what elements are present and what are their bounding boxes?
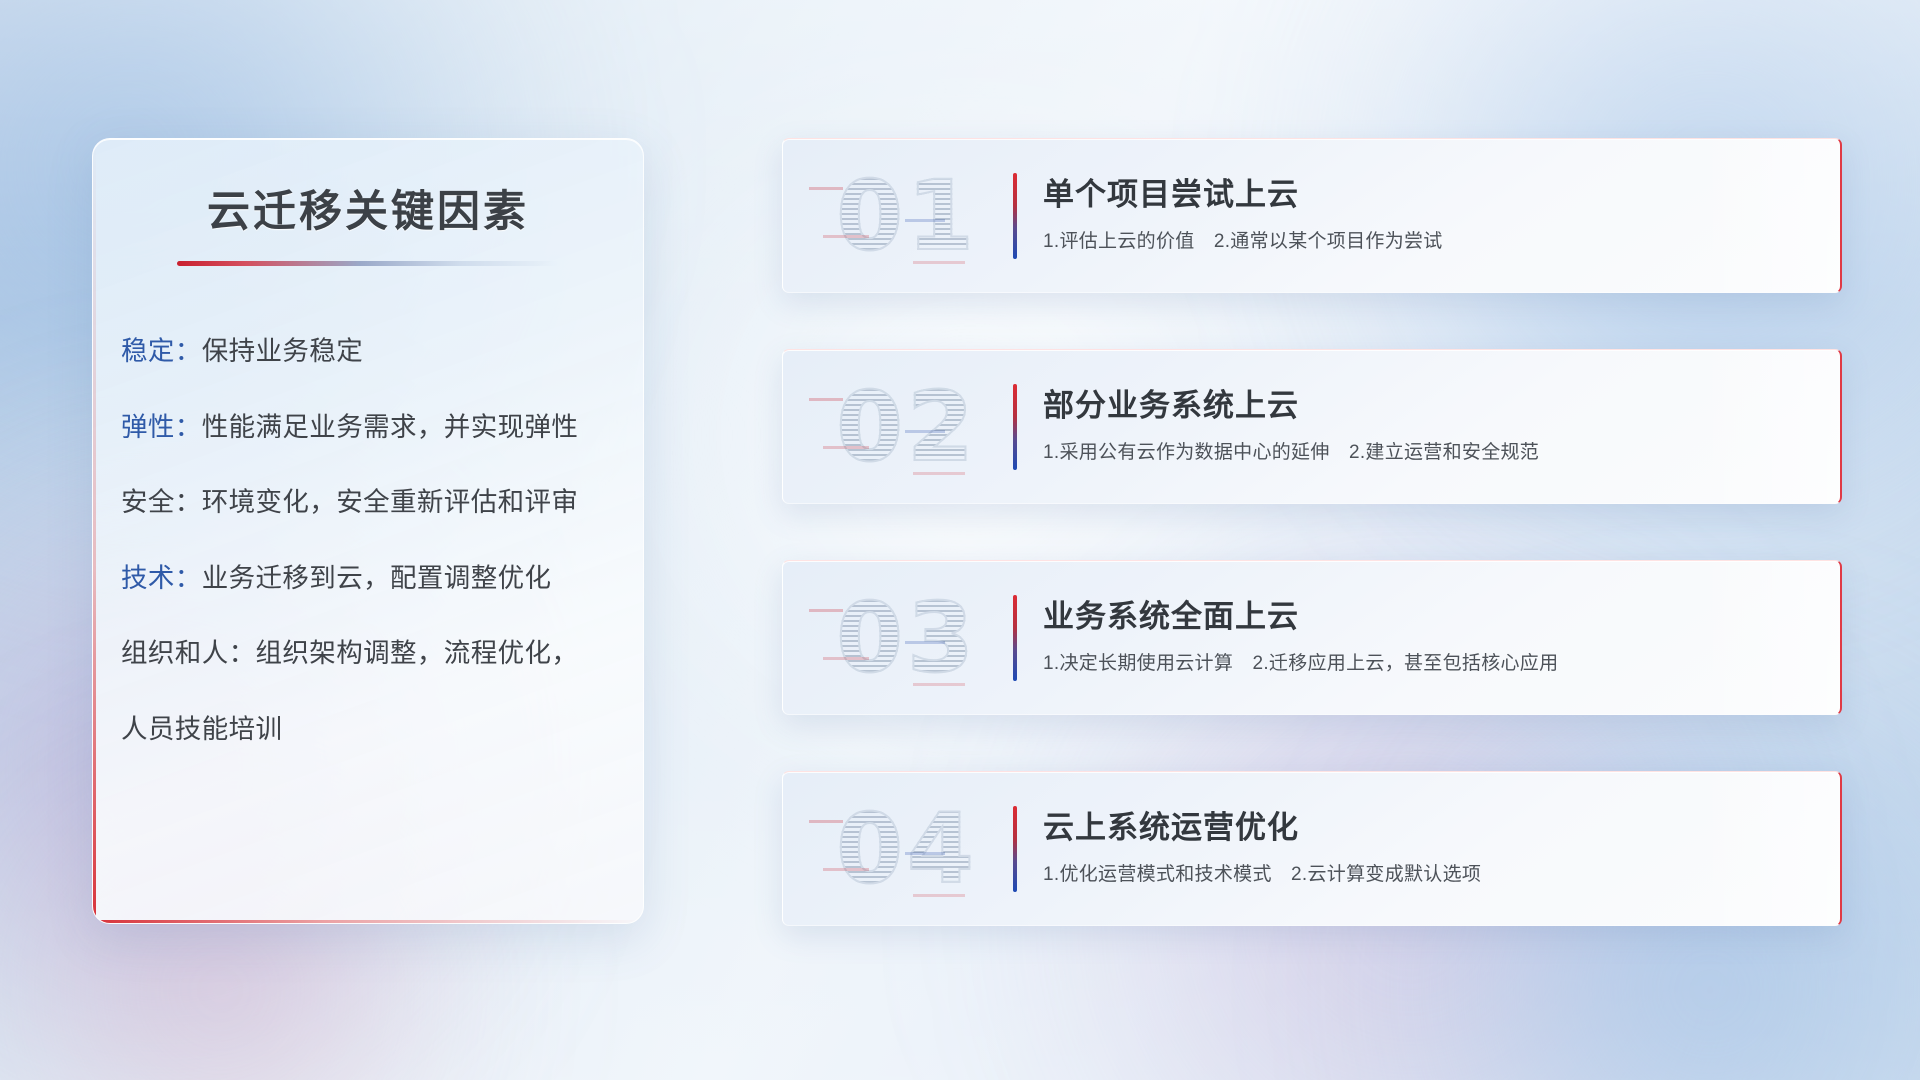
factor-list: 稳定：保持业务稳定 弹性：性能满足业务需求，并实现弹性 安全：环境变化，安全重新… — [121, 338, 643, 742]
title-underline-rule — [177, 261, 559, 266]
step-number-graphic: 04 — [809, 790, 1005, 908]
step-title: 单个项目尝试上云 — [1043, 178, 1800, 212]
factor-value: 业务迁移到云，配置调整优化 — [202, 563, 552, 593]
factor-key: 技术： — [121, 563, 202, 593]
step-card[interactable]: 04 云上系统运营优化 1.优化运营模式和技术模式 2.云计算变成默认选项 — [782, 771, 1842, 926]
step-number-graphic: 02 — [809, 368, 1005, 486]
step-description: 1.决定长期使用云计算 2.迁移应用上云，甚至包括核心应用 — [1043, 648, 1800, 675]
factor-value: 环境变化，安全重新评估和评审 — [202, 487, 579, 517]
factor-key: 组织和人： — [121, 638, 256, 668]
step-number-graphic: 03 — [809, 579, 1005, 697]
step-number: 02 — [836, 379, 978, 475]
step-description: 1.评估上云的价值 2.通常以某个项目作为尝试 — [1043, 226, 1800, 253]
step-title: 部分业务系统上云 — [1043, 389, 1800, 423]
step-number: 01 — [836, 168, 978, 264]
step-accent-bar — [1013, 806, 1017, 892]
step-text: 云上系统运营优化 1.优化运营模式和技术模式 2.云计算变成默认选项 — [1043, 811, 1840, 886]
step-card[interactable]: 02 部分业务系统上云 1.采用公有云作为数据中心的延伸 2.建立运营和安全规范 — [782, 349, 1842, 504]
factor-item: 人员技能培训 — [121, 716, 643, 743]
step-accent-bar — [1013, 173, 1017, 259]
step-description: 1.优化运营模式和技术模式 2.云计算变成默认选项 — [1043, 859, 1800, 886]
factor-key: 安全： — [121, 487, 202, 517]
step-card[interactable]: 01 单个项目尝试上云 1.评估上云的价值 2.通常以某个项目作为尝试 — [782, 138, 1842, 293]
step-description: 1.采用公有云作为数据中心的延伸 2.建立运营和安全规范 — [1043, 437, 1800, 464]
migration-steps-list: 01 单个项目尝试上云 1.评估上云的价值 2.通常以某个项目作为尝试 02 部… — [782, 138, 1842, 926]
factor-item: 稳定：保持业务稳定 — [121, 338, 643, 365]
factor-value: 保持业务稳定 — [202, 336, 363, 366]
step-title: 云上系统运营优化 — [1043, 811, 1800, 845]
step-accent-bar — [1013, 595, 1017, 681]
factor-value: 性能满足业务需求，并实现弹性 — [202, 412, 579, 442]
factor-key: 稳定： — [121, 336, 202, 366]
factor-item: 弹性：性能满足业务需求，并实现弹性 — [121, 414, 643, 441]
factor-item: 安全：环境变化，安全重新评估和评审 — [121, 489, 643, 516]
step-number-graphic: 01 — [809, 157, 1005, 275]
step-text: 业务系统全面上云 1.决定长期使用云计算 2.迁移应用上云，甚至包括核心应用 — [1043, 600, 1840, 675]
factor-value: 组织架构调整，流程优化， — [256, 638, 579, 668]
step-number: 03 — [836, 590, 978, 686]
factor-key: 弹性： — [121, 412, 202, 442]
step-card[interactable]: 03 业务系统全面上云 1.决定长期使用云计算 2.迁移应用上云，甚至包括核心应… — [782, 560, 1842, 715]
page-title: 云迁移关键因素 — [93, 177, 643, 239]
step-text: 部分业务系统上云 1.采用公有云作为数据中心的延伸 2.建立运营和安全规范 — [1043, 389, 1840, 464]
step-accent-bar — [1013, 384, 1017, 470]
key-factors-panel: 云迁移关键因素 稳定：保持业务稳定 弹性：性能满足业务需求，并实现弹性 安全：环… — [92, 138, 644, 924]
factor-item: 技术：业务迁移到云，配置调整优化 — [121, 565, 643, 592]
step-title: 业务系统全面上云 — [1043, 600, 1800, 634]
step-number: 04 — [836, 801, 978, 897]
factor-value: 人员技能培训 — [121, 714, 282, 744]
step-text: 单个项目尝试上云 1.评估上云的价值 2.通常以某个项目作为尝试 — [1043, 178, 1840, 253]
factor-item: 组织和人：组织架构调整，流程优化， — [121, 640, 643, 667]
